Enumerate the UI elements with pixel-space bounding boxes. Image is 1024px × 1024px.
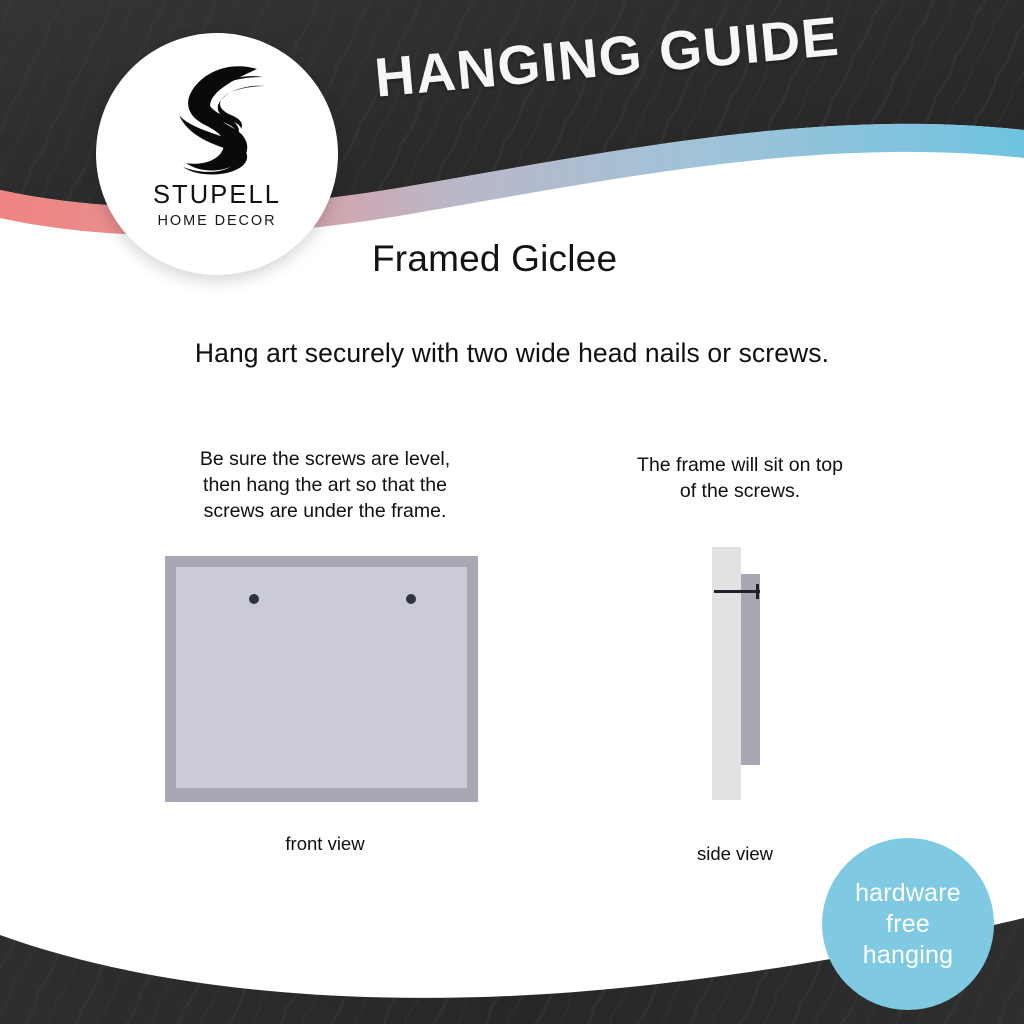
side-view-diagram	[712, 547, 802, 803]
frame-artwork-panel	[176, 567, 467, 788]
intro-instruction: Hang art securely with two wide head nai…	[0, 338, 1024, 369]
frame-profile	[741, 574, 760, 765]
nail-shaft-icon	[714, 590, 760, 593]
brand-name: STUPELL	[153, 181, 281, 210]
side-view-caption-line-1: The frame will sit on top	[590, 452, 890, 478]
front-view-caption-line-2: then hang the art so that the	[160, 472, 490, 498]
badge-line-3: hanging	[863, 940, 953, 971]
screw-marker-right	[406, 594, 416, 604]
hardware-free-hanging-badge: hardware free hanging	[822, 838, 994, 1010]
side-view-caption: The frame will sit on top of the screws.	[590, 452, 890, 504]
stupell-swoosh-logo-icon	[153, 59, 281, 177]
page-title: HANGING GUIDE	[372, 4, 842, 110]
front-view-caption-line-1: Be sure the screws are level,	[160, 446, 490, 472]
product-name: Framed Giclee	[372, 238, 617, 280]
front-view-label: front view	[170, 833, 480, 855]
front-view-caption: Be sure the screws are level, then hang …	[160, 446, 490, 524]
front-view-diagram	[165, 556, 478, 802]
front-view-caption-line-3: screws are under the frame.	[160, 498, 490, 524]
screw-marker-left	[249, 594, 259, 604]
side-view-label: side view	[640, 843, 830, 865]
wall-surface	[712, 547, 741, 800]
nail-head-icon	[756, 584, 759, 599]
badge-line-2: free	[886, 909, 930, 940]
hanging-guide-infographic: HANGING GUIDE STUPELL HOME DECOR Framed …	[0, 0, 1024, 1024]
brand-tagline: HOME DECOR	[158, 213, 277, 229]
side-view-caption-line-2: of the screws.	[590, 478, 890, 504]
badge-line-1: hardware	[855, 878, 961, 909]
brand-logo-badge: STUPELL HOME DECOR	[96, 33, 338, 275]
